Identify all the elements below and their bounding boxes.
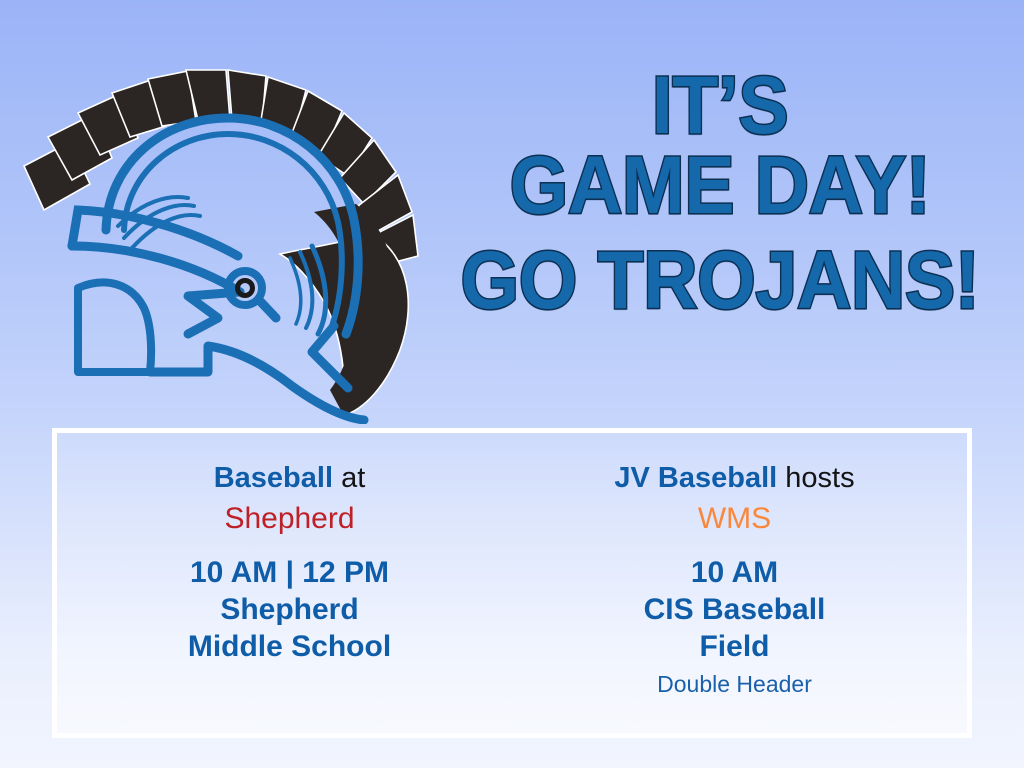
- venue-line-2: Field: [512, 629, 957, 664]
- helmet-outline-group: [72, 118, 364, 420]
- matchup-verb: hosts: [785, 462, 854, 494]
- venue-line-1: CIS Baseball: [512, 592, 957, 627]
- headline-line-2: GAME DAY!: [444, 148, 996, 224]
- headline-line-1: IT’S: [444, 68, 996, 144]
- team-name: Baseball: [214, 462, 333, 494]
- game-column-right: JV Baseball hosts WMS 10 AM CIS Baseball…: [512, 461, 957, 723]
- matchup-line: Baseball at: [67, 461, 512, 495]
- game-day-poster: IT’S GAME DAY! GO TROJANS! Baseball at S…: [0, 0, 1024, 768]
- opponent-name: WMS: [512, 501, 957, 536]
- game-time: 10 AM | 12 PM: [67, 555, 512, 590]
- venue-line-2: Middle School: [67, 629, 512, 664]
- team-name: JV Baseball: [614, 462, 777, 494]
- matchup-line: JV Baseball hosts: [512, 461, 957, 495]
- game-time: 10 AM: [512, 555, 957, 590]
- venue-line-1: Shepherd: [67, 592, 512, 627]
- game-column-left: Baseball at Shepherd 10 AM | 12 PM Sheph…: [67, 461, 512, 723]
- trojan-helmet-logo: [12, 34, 432, 424]
- headline-block: IT’S GAME DAY! GO TROJANS!: [420, 68, 1020, 319]
- game-note: Double Header: [512, 671, 957, 698]
- opponent-name: Shepherd: [67, 501, 512, 536]
- matchup-verb: at: [341, 462, 365, 494]
- headline-line-3: GO TROJANS!: [444, 243, 996, 319]
- game-info-panel: Baseball at Shepherd 10 AM | 12 PM Sheph…: [52, 428, 972, 738]
